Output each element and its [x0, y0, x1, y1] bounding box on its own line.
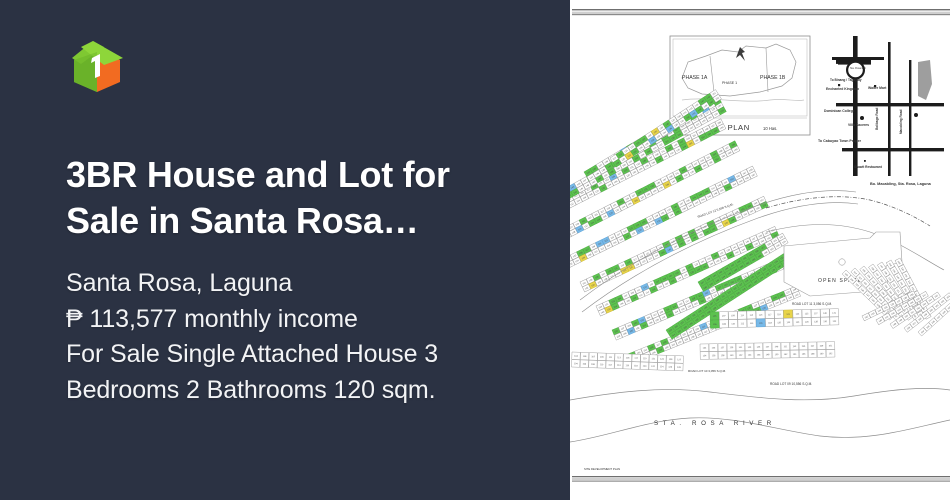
- lot-parcel: 158: [808, 350, 817, 358]
- lot-parcel: 105: [710, 312, 719, 320]
- site-development-plan-svg: PHASE 1A PHASE 1 PHASE 1B KEY PLAN 10 Ha…: [570, 0, 950, 500]
- lot-parcel: 101: [826, 342, 835, 350]
- lot-parcel: 130: [821, 317, 830, 325]
- lot-parcel: 109: [728, 311, 737, 319]
- lot-parcel: 140: [727, 351, 736, 359]
- lot-parcel: 107: [589, 353, 598, 361]
- lot-parcel: 109: [598, 353, 607, 361]
- vicinity-label-cabuyao: To Cabuyao Town Proper: [818, 139, 862, 143]
- lot-parcel: 148: [763, 351, 772, 359]
- lot-parcel: 159: [817, 342, 826, 350]
- lot-parcel: 128: [675, 363, 684, 371]
- lot-parcel: 144: [745, 351, 754, 359]
- lot-parcel: 114: [614, 361, 623, 369]
- road-lot-label-09: ROAD LOT 09 10,556 S.Q.M.: [770, 382, 812, 386]
- listing-description: For Sale Single Attached House 3 Bedroom…: [66, 337, 530, 408]
- lot-parcel: 153: [790, 342, 799, 350]
- vicinity-label-shawit: Shawit Restaurant: [854, 165, 883, 169]
- lot-parcel: 146: [754, 351, 763, 359]
- page-title: 3BR House and Lot for Sale in Santa Rosa…: [66, 152, 526, 244]
- lot-parcel: 114: [747, 319, 756, 327]
- lot-parcel: 113: [747, 311, 756, 319]
- vicinity-label-enchanted-kingdom: Enchanted Kingdom: [826, 87, 859, 91]
- lot-parcel: 154: [790, 350, 799, 358]
- lot-parcel: 127: [675, 356, 684, 364]
- lot-parcel: 115: [623, 354, 632, 362]
- lot-parcel: 103: [572, 352, 581, 360]
- lot-parcel: 117: [632, 354, 641, 362]
- lot-parcel: 106: [580, 360, 589, 368]
- property-listing-card: 3BR House and Lot for Sale in Santa Rosa…: [0, 0, 950, 500]
- lot-parcel: 116: [756, 319, 765, 327]
- lot-parcel: 127: [811, 309, 820, 317]
- river-label: STA. ROSA RIVER: [654, 420, 776, 427]
- vicinity-label-walter-mart: Walter Mart: [868, 86, 887, 90]
- vicinity-label-macabling-road: Macabling Road: [899, 110, 903, 134]
- lot-parcel: 128: [811, 317, 820, 325]
- lot-parcel: 111: [606, 353, 615, 361]
- lot-parcel: 134: [700, 352, 709, 360]
- lot-parcel: 104: [571, 360, 580, 368]
- site-plan-image: PHASE 1A PHASE 1 PHASE 1B KEY PLAN 10 Ha…: [570, 0, 950, 500]
- lot-parcel: 126: [666, 363, 675, 371]
- lot-parcel: 123: [793, 310, 802, 318]
- vicinity-label-sta-rosa-exit: Sta. Rosa Exit: [850, 67, 866, 70]
- lot-parcel: 121: [784, 310, 793, 318]
- key-plan-area: 10 Has.: [763, 126, 777, 131]
- lot-parcel: 107: [719, 312, 728, 320]
- lot-row: 1051061071081091101111121131141151161171…: [710, 309, 839, 329]
- vicinity-label-dominican-college: Dominican College: [824, 109, 855, 113]
- lot-parcel: 122: [649, 362, 658, 370]
- lot-parcel: 149: [772, 343, 781, 351]
- lot-parcel: 110: [729, 319, 738, 327]
- lot-parcel: 145: [754, 343, 763, 351]
- sheet-border-top: [572, 9, 950, 15]
- house-logo-icon: [66, 36, 128, 98]
- lot-parcel: 150: [772, 350, 781, 358]
- lot-row: 1331341351361371381391401411421431441451…: [700, 342, 835, 360]
- lot-parcel: 115: [756, 311, 765, 319]
- lot-parcel: 125: [802, 309, 811, 317]
- lot-parcel: 122: [784, 318, 793, 326]
- listing-info-panel: 3BR House and Lot for Sale in Santa Rosa…: [0, 0, 570, 500]
- lot-parcel: 119: [774, 310, 783, 318]
- lot-parcel: 138: [718, 351, 727, 359]
- lot-parcel: 105: [580, 352, 589, 360]
- sheet-border-bottom: [572, 476, 950, 482]
- key-plan-phase-1b: PHASE 1B: [760, 75, 786, 81]
- lot-parcel: 139: [727, 343, 736, 351]
- lot-parcel: 119: [640, 354, 649, 362]
- lot-parcel: 116: [623, 361, 632, 369]
- lot-parcel: 156: [799, 350, 808, 358]
- lot-parcel: 111: [738, 311, 747, 319]
- vicinity-label-balibago-road: Balibago Road: [875, 108, 879, 130]
- lot-parcel: 155: [799, 342, 808, 350]
- lot-parcel: 160: [817, 350, 826, 358]
- lot-parcel: 152: [781, 350, 790, 358]
- lot-parcel: 120: [640, 362, 649, 370]
- lot-parcel: 118: [632, 362, 641, 370]
- lot-parcel: 108: [589, 360, 598, 368]
- lot-parcel: 137: [718, 344, 727, 352]
- lot-parcel: 126: [802, 318, 811, 326]
- lot-parcel: 106: [710, 320, 719, 328]
- lot-parcel: 110: [597, 360, 606, 368]
- key-plan-phase-1: PHASE 1: [722, 81, 737, 85]
- lot-parcel: 108: [719, 320, 728, 328]
- lot-parcel: 113: [615, 354, 624, 362]
- lot-parcel: 133: [700, 344, 709, 352]
- lot-parcel: 143: [745, 343, 754, 351]
- road-lot-label-11: ROAD LOT 11 3,056 S.Q.M.: [792, 302, 832, 306]
- lot-parcel: 141: [736, 343, 745, 351]
- listing-location: Santa Rosa, Laguna: [66, 266, 530, 302]
- sheet-footer-note: SITE DEVELOPMENT PLAN: [584, 467, 620, 471]
- road-lot-label-10: ROAD LOT 10 3,056 S.Q.M.: [688, 369, 726, 373]
- lot-parcel: 123: [658, 355, 667, 363]
- lot-parcel: 147: [763, 343, 772, 351]
- vicinity-label-villa-caceres: Villa Caceres: [848, 123, 869, 127]
- key-plan-phase-1a: PHASE 1A: [682, 75, 708, 81]
- lot-parcel: 136: [709, 351, 718, 359]
- vicinity-caption: Bo. Macabling, Sta. Rosa, Laguna: [870, 182, 932, 186]
- vicinity-label-binang: To Binang / Tagaytay: [830, 78, 862, 82]
- lot-parcel: 124: [657, 363, 666, 371]
- lot-parcel: 124: [793, 318, 802, 326]
- lot-parcel: 135: [709, 344, 718, 352]
- lot-parcel: 112: [738, 319, 747, 327]
- lot-parcel: 131: [830, 309, 839, 317]
- lot-parcel: 121: [649, 355, 658, 363]
- lot-parcel: 142: [736, 351, 745, 359]
- lot-parcel: 129: [820, 309, 829, 317]
- lot-parcel: 117: [765, 310, 774, 318]
- lot-parcel: 102: [826, 349, 835, 357]
- lot-parcel: 157: [808, 342, 817, 350]
- lot-parcel: 112: [606, 361, 615, 369]
- lot-parcel: 118: [765, 319, 774, 327]
- lot-parcel: 120: [775, 318, 784, 326]
- listing-price: ₱ 113,577 monthly income: [66, 302, 530, 338]
- lot-parcel: 151: [781, 342, 790, 350]
- lot-parcel: 132: [830, 317, 839, 325]
- lot-parcel: 125: [666, 355, 675, 363]
